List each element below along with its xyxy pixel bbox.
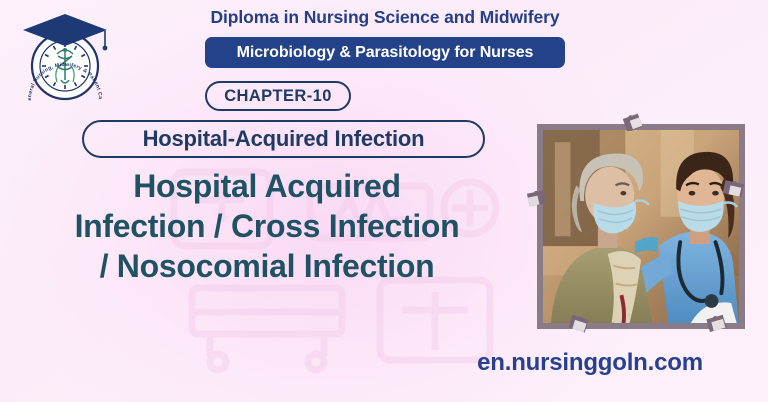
headline: Hospital Acquired Infection / Cross Infe… [6,166,528,286]
website-url: en.nursinggoln.com [430,349,750,377]
headline-line-2: Infection / Cross Infection [6,206,528,246]
headline-line-1: Hospital Acquired [6,166,528,206]
photo-block [537,124,745,329]
poster-slide: General Nursing, Midwifery & Patient Car… [0,0,768,402]
topic-badge: Hospital-Acquired Infection [82,120,485,158]
course-title: Diploma in Nursing Science and Midwifery [165,7,605,28]
topic-label: Hospital-Acquired Infection [143,126,425,152]
subject-label: Microbiology & Parasitology for Nurses [237,44,534,62]
academy-logo: General Nursing, Midwifery & Patient Car… [17,8,113,108]
chapter-label: CHAPTER-10 [224,87,332,106]
headline-line-3: / Nosocomial Infection [6,246,528,286]
subject-pill: Microbiology & Parasitology for Nurses [205,37,565,68]
nurse-patient-photo [537,124,745,329]
chapter-badge: CHAPTER-10 [205,81,351,111]
